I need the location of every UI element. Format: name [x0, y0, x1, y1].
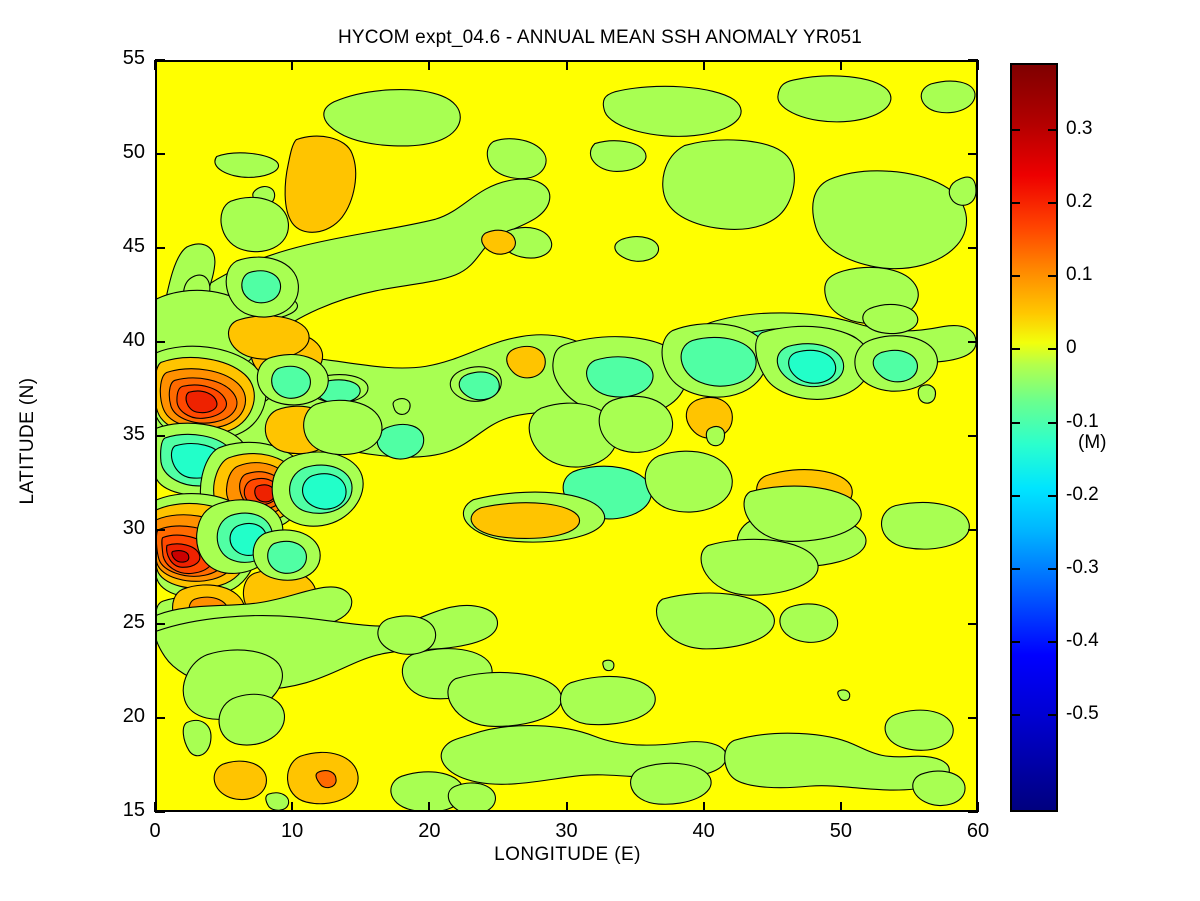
- colorbar-tick: [1048, 422, 1056, 424]
- y-tick: [155, 529, 165, 531]
- colorbar-tick-label: -0.2: [1066, 484, 1099, 506]
- y-tick: [968, 529, 978, 531]
- colorbar-tick-label: 0.3: [1066, 118, 1092, 140]
- x-tick-label: 10: [262, 820, 322, 843]
- y-axis-title: LATITUDE (N): [17, 321, 39, 561]
- colorbar-tick: [1048, 495, 1056, 497]
- y-tick: [155, 717, 165, 719]
- y-tick: [155, 435, 165, 437]
- y-tick: [968, 247, 978, 249]
- x-tick: [840, 60, 842, 70]
- colorbar-tick: [1048, 202, 1056, 204]
- colorbar-tick: [1048, 714, 1056, 716]
- colorbar-tick-label: -0.5: [1066, 703, 1099, 725]
- x-tick: [566, 60, 568, 70]
- colorbar-tick-label: -0.1: [1066, 411, 1099, 433]
- figure-canvas: HYCOM expt_04.6 - ANNUAL MEAN SSH ANOMAL…: [0, 0, 1200, 901]
- y-tick: [155, 623, 165, 625]
- x-tick: [428, 802, 430, 812]
- colorbar-tick: [1048, 641, 1056, 643]
- x-tick: [291, 802, 293, 812]
- colorbar-tick-label: 0.1: [1066, 264, 1092, 286]
- y-tick: [968, 153, 978, 155]
- colorbar-unit-label: (M): [1078, 432, 1106, 454]
- y-tick: [155, 59, 165, 61]
- y-tick-label: 25: [99, 611, 145, 634]
- y-tick: [968, 717, 978, 719]
- y-tick: [968, 435, 978, 437]
- y-tick: [155, 811, 165, 813]
- contour-field: [157, 62, 976, 810]
- colorbar-tick: [1012, 202, 1020, 204]
- y-tick-label: 35: [99, 423, 145, 446]
- colorbar-tick: [1012, 275, 1020, 277]
- x-axis-title: LONGITUDE (E): [0, 844, 1135, 866]
- x-tick: [703, 60, 705, 70]
- colorbar-tick: [1048, 275, 1056, 277]
- y-tick-label: 45: [99, 235, 145, 258]
- x-tick-label: 30: [537, 820, 597, 843]
- y-tick: [155, 341, 165, 343]
- colorbar-tick-label: 0: [1066, 337, 1077, 359]
- colorbar-tick: [1012, 568, 1020, 570]
- colorbar-tick: [1012, 348, 1020, 350]
- x-tick-label: 60: [948, 820, 1008, 843]
- colorbar-tick: [1048, 129, 1056, 131]
- x-tick: [840, 802, 842, 812]
- x-tick-label: 40: [674, 820, 734, 843]
- figure-title: HYCOM expt_04.6 - ANNUAL MEAN SSH ANOMAL…: [0, 27, 1200, 49]
- y-tick: [155, 153, 165, 155]
- colorbar-gradient: [1012, 65, 1056, 810]
- y-tick: [155, 247, 165, 249]
- x-tick: [291, 60, 293, 70]
- y-tick: [968, 623, 978, 625]
- y-tick: [968, 341, 978, 343]
- colorbar-tick-label: -0.3: [1066, 557, 1099, 579]
- x-tick-label: 0: [125, 820, 185, 843]
- y-tick: [968, 59, 978, 61]
- colorbar-tick: [1048, 568, 1056, 570]
- colorbar-tick-label: -0.4: [1066, 630, 1099, 652]
- x-tick-label: 50: [811, 820, 871, 843]
- y-tick-label: 30: [99, 517, 145, 540]
- y-tick-label: 15: [99, 799, 145, 822]
- y-tick-label: 40: [99, 329, 145, 352]
- contour-plot-area: [155, 60, 978, 812]
- colorbar-tick: [1012, 641, 1020, 643]
- colorbar-tick-label: 0.2: [1066, 191, 1092, 213]
- colorbar-tick: [1012, 422, 1020, 424]
- x-tick: [566, 802, 568, 812]
- y-tick-label: 20: [99, 705, 145, 728]
- x-tick: [154, 60, 156, 70]
- colorbar-tick: [1012, 495, 1020, 497]
- x-tick-label: 20: [399, 820, 459, 843]
- colorbar: [1010, 63, 1058, 812]
- x-tick: [703, 802, 705, 812]
- colorbar-tick: [1048, 348, 1056, 350]
- colorbar-tick: [1012, 714, 1020, 716]
- y-tick-label: 55: [99, 47, 145, 70]
- x-tick: [428, 60, 430, 70]
- y-tick-label: 50: [99, 141, 145, 164]
- colorbar-tick: [1012, 129, 1020, 131]
- y-tick: [968, 811, 978, 813]
- x-tick: [977, 60, 979, 70]
